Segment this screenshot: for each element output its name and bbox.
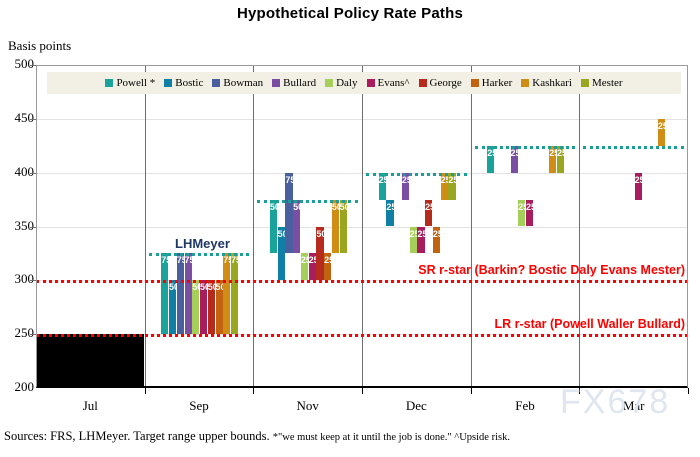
legend-label: Bullard	[283, 77, 316, 89]
plot-area: 7550757550505050757550507550252550255050…	[36, 65, 688, 388]
legend-swatch-icon	[105, 79, 113, 87]
legend-label: Harker	[482, 77, 513, 89]
lhmeyer-annotation: LHMeyer	[175, 236, 230, 251]
chart-title: Hypothetical Policy Rate Paths	[0, 5, 700, 22]
legend-label: Evans^	[378, 77, 410, 89]
x-tick-label: Nov	[263, 398, 353, 414]
legend-swatch-icon	[367, 79, 375, 87]
legend: Powell *BosticBowmanBullardDalyEvans^Geo…	[47, 72, 681, 94]
legend-label: Powell *	[116, 77, 155, 89]
x-tick-mark	[688, 388, 689, 394]
legend-swatch-icon	[581, 79, 589, 87]
x-tick-label: Feb	[480, 398, 570, 414]
x-tick-label: Dec	[371, 398, 461, 414]
legend-item[interactable]: Kashkari	[521, 77, 572, 89]
legend-label: George	[430, 77, 462, 89]
legend-swatch-icon	[419, 79, 427, 87]
sources-note: Sources: FRS, LHMeyer. Target range uppe…	[4, 429, 510, 444]
legend-label: Bostic	[175, 77, 203, 89]
legend-swatch-icon	[272, 79, 280, 87]
y-tick-label: 300	[0, 271, 34, 287]
legend-item[interactable]: Evans^	[367, 77, 410, 89]
legend-label: Kashkari	[532, 77, 572, 89]
plot-border	[36, 65, 688, 388]
y-tick-label: 450	[0, 110, 34, 126]
x-tick-label: Sep	[154, 398, 244, 414]
sources-main: Sources: FRS, LHMeyer. Target range uppe…	[4, 429, 270, 443]
x-tick-mark	[471, 388, 472, 394]
x-tick-mark	[579, 388, 580, 394]
legend-item[interactable]: Bullard	[272, 77, 316, 89]
x-tick-label: Jul	[45, 398, 135, 414]
y-tick-label: 500	[0, 56, 34, 72]
y-tick-label: 250	[0, 325, 34, 341]
legend-swatch-icon	[325, 79, 333, 87]
legend-item[interactable]: Daly	[325, 77, 357, 89]
y-tick-label: 350	[0, 218, 34, 234]
legend-swatch-icon	[164, 79, 172, 87]
legend-item[interactable]: George	[419, 77, 462, 89]
legend-label: Daly	[336, 77, 357, 89]
x-tick-mark	[145, 388, 146, 394]
y-axis-unit-label: Basis points	[8, 38, 71, 54]
legend-item[interactable]: Bowman	[212, 77, 263, 89]
legend-item[interactable]: Powell *	[105, 77, 155, 89]
chart-root: Hypothetical Policy Rate Paths Basis poi…	[0, 0, 700, 457]
legend-swatch-icon	[212, 79, 220, 87]
x-tick-mark	[253, 388, 254, 394]
legend-item[interactable]: Mester	[581, 77, 623, 89]
legend-item[interactable]: Harker	[471, 77, 513, 89]
legend-swatch-icon	[521, 79, 529, 87]
legend-label: Mester	[592, 77, 623, 89]
y-tick-label: 400	[0, 164, 34, 180]
x-tick-mark	[362, 388, 363, 394]
legend-item[interactable]: Bostic	[164, 77, 203, 89]
sources-footnote: *"we must keep at it until the job is do…	[273, 432, 510, 443]
y-tick-label: 200	[0, 379, 34, 395]
legend-label: Bowman	[223, 77, 263, 89]
legend-swatch-icon	[471, 79, 479, 87]
x-tick-label: Mar	[589, 398, 679, 414]
